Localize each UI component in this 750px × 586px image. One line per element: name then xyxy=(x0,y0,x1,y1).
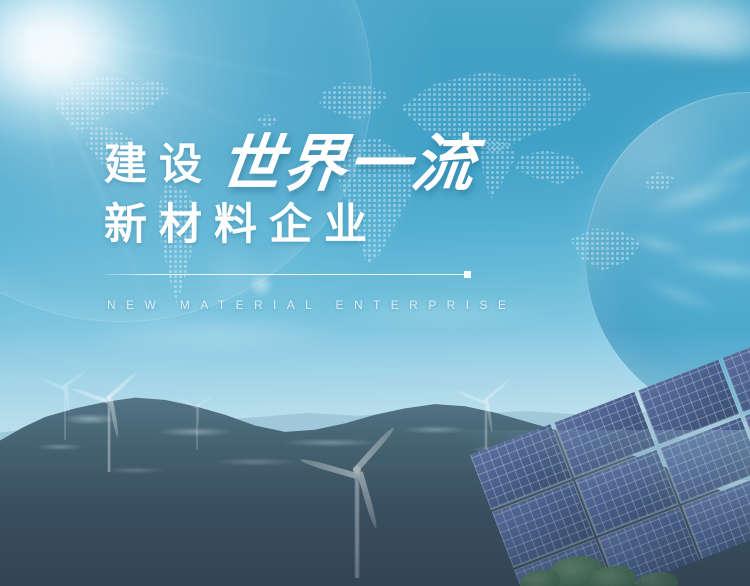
headline-line-2: 新材料企业 xyxy=(104,204,476,247)
divider-line xyxy=(105,274,465,275)
cloud xyxy=(556,18,666,58)
headline-block: 建设 世界一流 新材料企业 xyxy=(104,128,476,247)
turbine-tower xyxy=(354,470,359,578)
turbine-hub xyxy=(63,384,67,388)
turbine-hub xyxy=(353,466,361,474)
headline-divider xyxy=(105,271,471,278)
headline-emphasis: 世界一流 xyxy=(216,134,480,196)
headline-prefix: 建设 xyxy=(104,144,214,187)
subtitle-english: NEW MATERIAL ENTERPRISE xyxy=(107,298,516,312)
turbine-tower xyxy=(107,398,110,472)
turbine-blade xyxy=(197,407,199,427)
turbine-hub xyxy=(106,396,111,401)
hero-banner: 建设 世界一流 新材料企业 NEW MATERIAL ENTERPRISE xyxy=(0,0,750,586)
divider-end-cap xyxy=(464,271,471,278)
turbine-hub xyxy=(195,405,198,408)
turbine-hub xyxy=(484,398,488,402)
headline-line-1: 建设 世界一流 xyxy=(104,128,476,190)
